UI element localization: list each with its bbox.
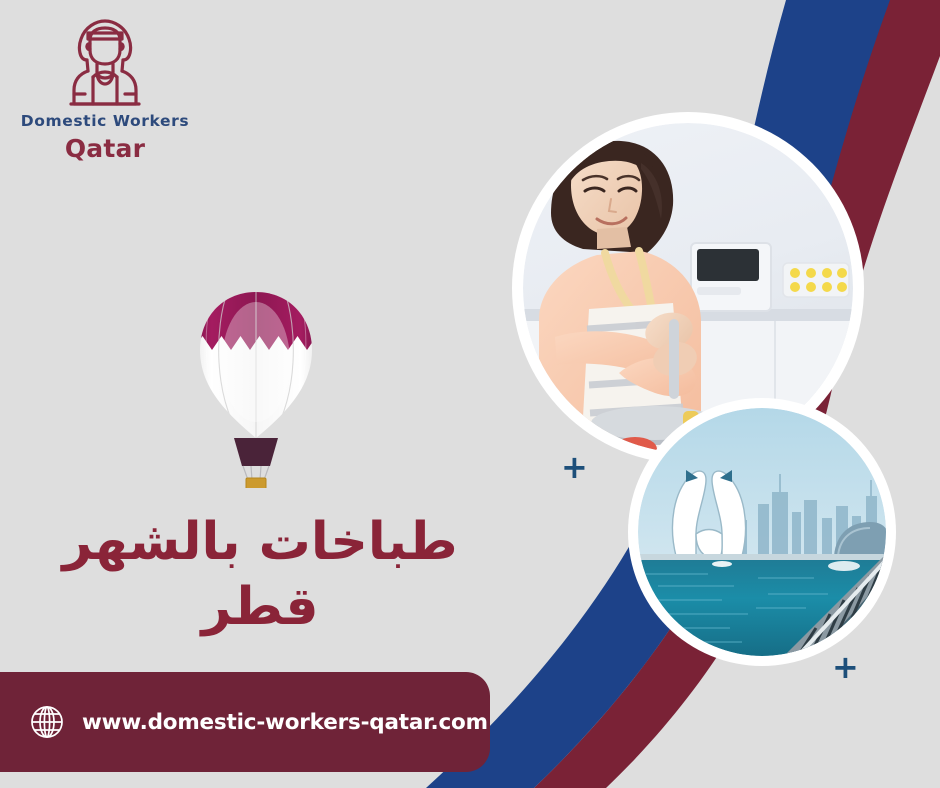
plus-decor-left: + bbox=[561, 451, 588, 483]
domestic-worker-woman-icon bbox=[57, 14, 153, 110]
website-url-bar[interactable]: www.domestic-workers-qatar.com bbox=[0, 672, 490, 772]
photo-cook-image bbox=[523, 123, 853, 453]
plus-decor-right: + bbox=[832, 651, 859, 683]
photo-doha-circle[interactable] bbox=[628, 398, 896, 666]
photo-doha-image bbox=[638, 408, 886, 656]
hot-air-balloon-qatar-flag bbox=[186, 288, 326, 488]
brand-name-line1: Domestic Workers bbox=[10, 112, 200, 130]
brand-name-line2: Qatar bbox=[10, 134, 200, 163]
website-url-text: www.domestic-workers-qatar.com bbox=[82, 710, 488, 735]
brand-logo[interactable]: Domestic Workers Qatar bbox=[10, 14, 200, 163]
globe-icon bbox=[30, 705, 64, 739]
page-title: طباخات بالشهر قطر bbox=[0, 510, 520, 640]
promo-banner: Domestic Workers Qatar bbox=[0, 0, 940, 788]
